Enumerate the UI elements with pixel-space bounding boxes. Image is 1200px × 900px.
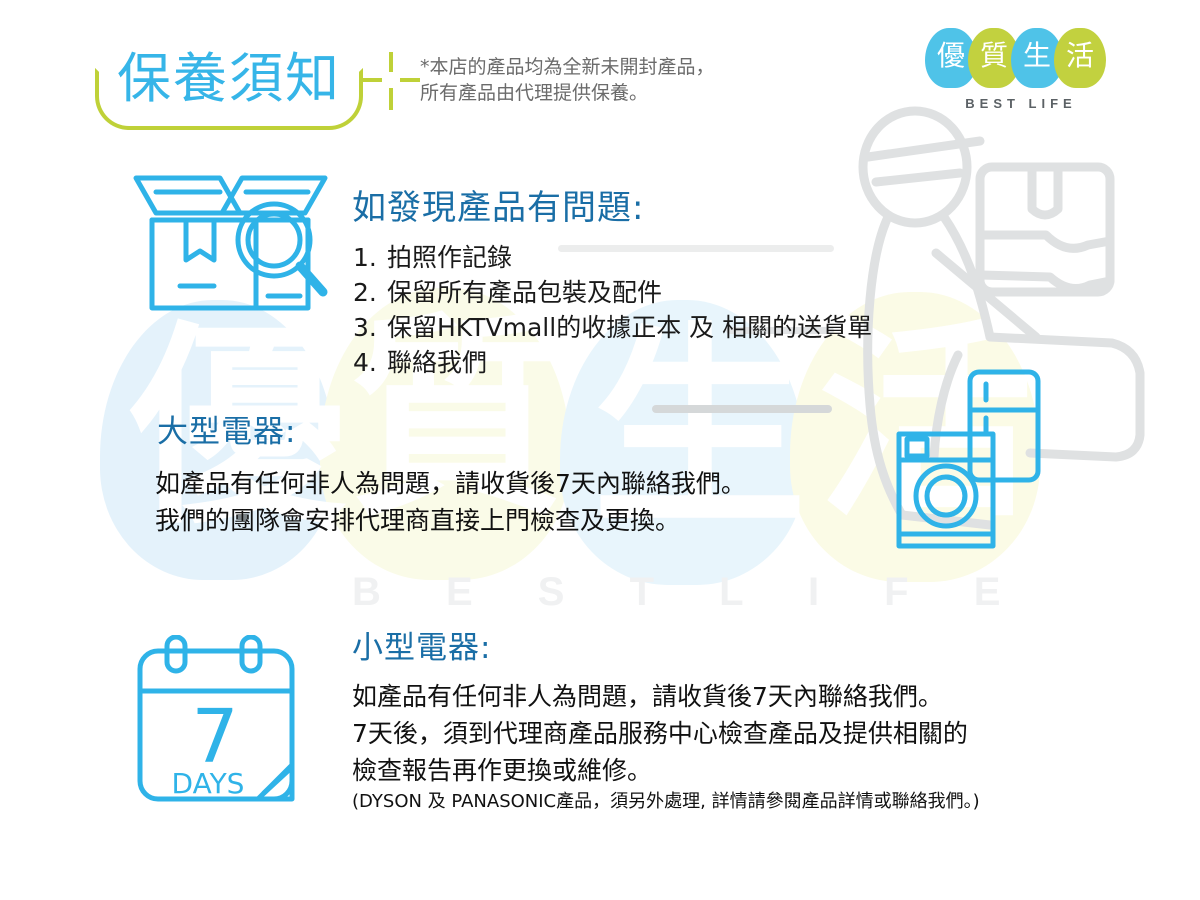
list-item-label: 拍照作記錄 xyxy=(387,243,512,272)
logo-char-4: 活 xyxy=(1054,40,1106,72)
list-item: 2.保留所有產品包裝及配件 xyxy=(353,275,872,310)
page-title-group: 保養須知 xyxy=(95,28,405,118)
divider-line-2 xyxy=(652,405,832,413)
list-item-number: 1. xyxy=(353,240,387,275)
infographic-canvas: 優 質 生 活 B E S T L I F E 保養須知 xyxy=(0,0,1200,900)
plus-sparkle-icon xyxy=(360,50,422,112)
store-note: *本店的產品均為全新未開封產品， 所有產品由代理提供保養。 xyxy=(420,54,715,106)
list-item-number: 4. xyxy=(353,345,387,380)
logo-subtitle: BEST LIFE xyxy=(933,96,1109,111)
list-item: 4.聯絡我們 xyxy=(353,345,872,380)
washing-machine-and-fridge-icon xyxy=(885,368,1085,558)
watermark-bestlife: B E S T L I F E xyxy=(352,570,1027,615)
small-appliance-heading: 小型電器: xyxy=(352,622,491,667)
problem-step-list: 1.拍照作記錄 2.保留所有產品包裝及配件 3.保留HKTVmall的收據正本 … xyxy=(353,240,872,380)
list-item-label: 聯絡我們 xyxy=(387,348,487,377)
list-item: 1.拍照作記錄 xyxy=(353,240,872,275)
brand-logo: 優 質 生 活 BEST LIFE xyxy=(925,28,1125,118)
seven-days-calendar-icon: 7 DAYS xyxy=(130,635,305,805)
small-appliance-footnote: (DYSON 及 PANASONIC產品，須另外處理, 詳情請參閱產品詳情或聯絡… xyxy=(352,790,980,814)
list-item-number: 2. xyxy=(353,275,387,310)
open-box-with-magnifier-icon xyxy=(128,168,333,318)
list-item-label: 保留HKTVmall的收據正本 及 相關的送貨單 xyxy=(387,313,872,342)
list-item: 3.保留HKTVmall的收據正本 及 相關的送貨單 xyxy=(353,310,872,345)
calendar-unit: DAYS xyxy=(172,767,245,800)
large-appliance-heading: 大型電器: xyxy=(157,406,296,451)
large-appliance-body: 如產品有任何非人為問題，請收貨後7天內聯絡我們。 我們的團隊會安排代理商直接上門… xyxy=(155,465,746,539)
page-title: 保養須知 xyxy=(117,34,341,113)
problem-heading: 如發現產品有問題: xyxy=(352,180,644,229)
list-item-number: 3. xyxy=(353,310,387,345)
small-appliance-body: 如產品有任何非人為問題，請收貨後7天內聯絡我們。 7天後，須到代理商產品服務中心… xyxy=(352,678,968,789)
list-item-label: 保留所有產品包裝及配件 xyxy=(387,278,662,307)
